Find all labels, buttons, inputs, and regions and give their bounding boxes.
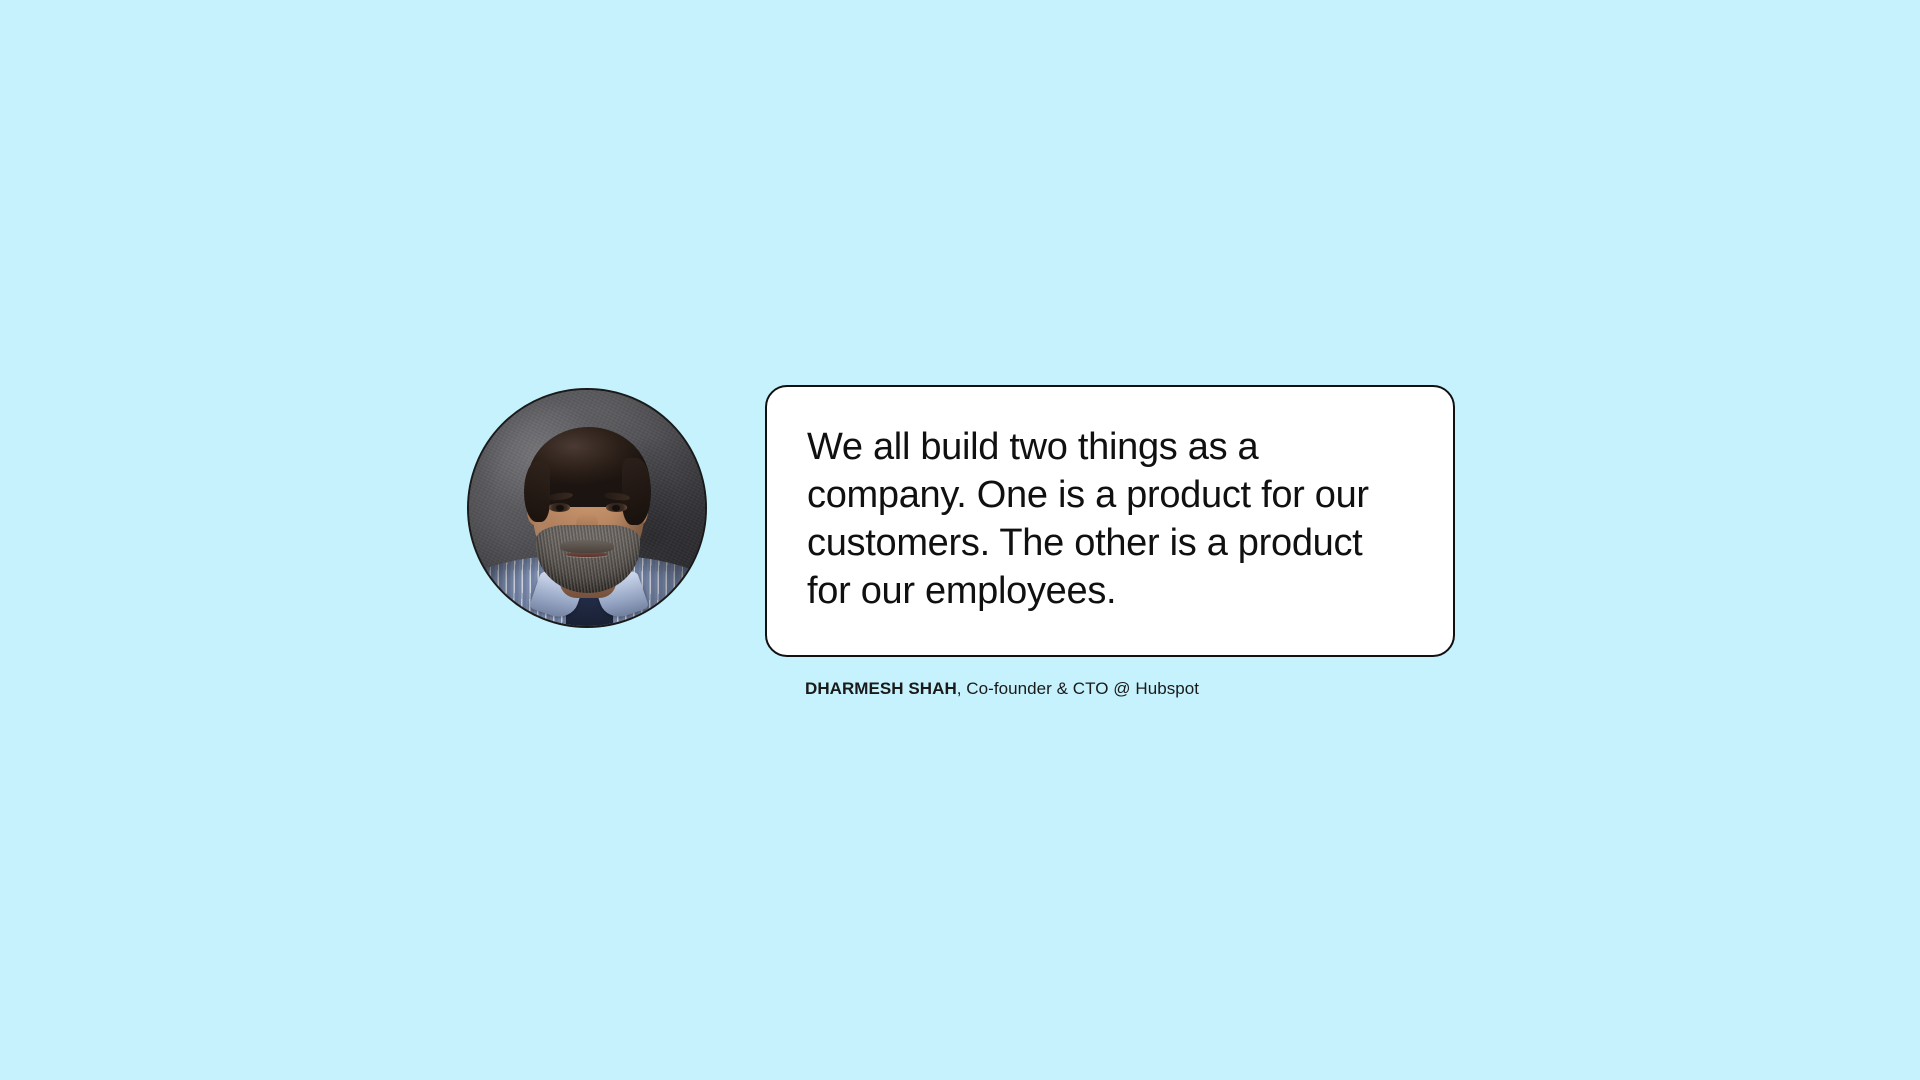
page-canvas: We all build two things as a company. On…	[0, 0, 1920, 1080]
attribution: DHARMESH SHAH, Co-founder & CTO @ Hubspo…	[805, 678, 1455, 700]
avatar-wrapper	[467, 388, 707, 628]
avatar	[467, 388, 707, 628]
testimonial-block: We all build two things as a company. On…	[467, 385, 1455, 700]
quote-column: We all build two things as a company. On…	[765, 385, 1455, 700]
attribution-name: DHARMESH SHAH	[805, 679, 957, 698]
quote-text: We all build two things as a company. On…	[807, 423, 1387, 615]
attribution-role: , Co-founder & CTO @ Hubspot	[957, 679, 1199, 698]
quote-card: We all build two things as a company. On…	[765, 385, 1455, 657]
portrait-vignette	[469, 390, 705, 626]
